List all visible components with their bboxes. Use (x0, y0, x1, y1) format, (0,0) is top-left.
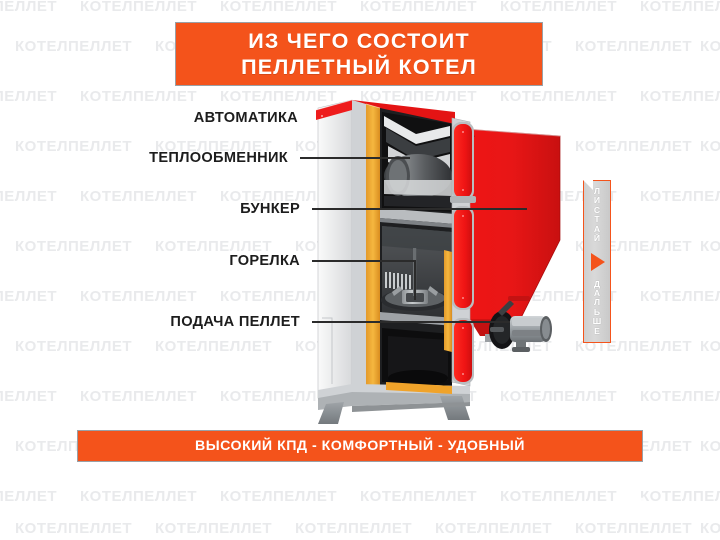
triangle-right-icon (591, 253, 605, 271)
callout-label-pellet-feed: ПОДАЧА ПЕЛЛЕТ (10, 314, 300, 330)
svg-text:Avito: Avito (651, 499, 703, 521)
leader-line-burner-vertical (414, 260, 416, 300)
callout-label-hopper: БУНКЕР (10, 201, 300, 217)
swipe-strip-body[interactable]: ЛИСТАЙ ДАЛЬШЕ (583, 180, 611, 343)
slide-canvas: КОТЕЛПЕЛЛЕТКОТЕЛПЕЛЛЕТКОТЕЛПЕЛЛЕТКОТЕЛПЕ… (0, 0, 720, 540)
callout-label-heat-exchanger: ТЕПЛООБМЕННИК (10, 150, 288, 166)
callout-label-automation: АВТОМАТИКА (10, 110, 298, 126)
leader-line-pellet-feed (312, 321, 510, 323)
callout-label-burner: ГОРЕЛКА (10, 253, 300, 269)
swipe-strip-letter: Й (594, 234, 600, 243)
avito-watermark-logo: Avito (622, 495, 714, 521)
swipe-strip-bottom-word: ДАЛЬШЕ (593, 280, 602, 336)
swipe-strip-top-word: ЛИСТАЙ (594, 187, 600, 243)
tagline-text: ВЫСОКИЙ КПД - КОМФОРТНЫЙ - УДОБНЫЙ (195, 438, 525, 454)
title-line-1: ИЗ ЧЕГО СОСТОИТ (248, 28, 470, 54)
swipe-strip-letter: Е (593, 327, 602, 336)
strip-corner-fold (582, 179, 593, 190)
leader-line-hopper (312, 208, 527, 210)
tagline-banner: ВЫСОКИЙ КПД - КОМФОРТНЫЙ - УДОБНЫЙ (77, 430, 643, 462)
leader-line-heat-exchanger (300, 157, 410, 159)
swipe-next-strip[interactable]: ЛИСТАЙ ДАЛЬШЕ (583, 180, 611, 343)
title-line-2: ПЕЛЛЕТНЫЙ КОТЕЛ (241, 54, 477, 80)
leader-line-burner (312, 260, 416, 262)
title-banner: ИЗ ЧЕГО СОСТОИТ ПЕЛЛЕТНЫЙ КОТЕЛ (175, 22, 543, 86)
